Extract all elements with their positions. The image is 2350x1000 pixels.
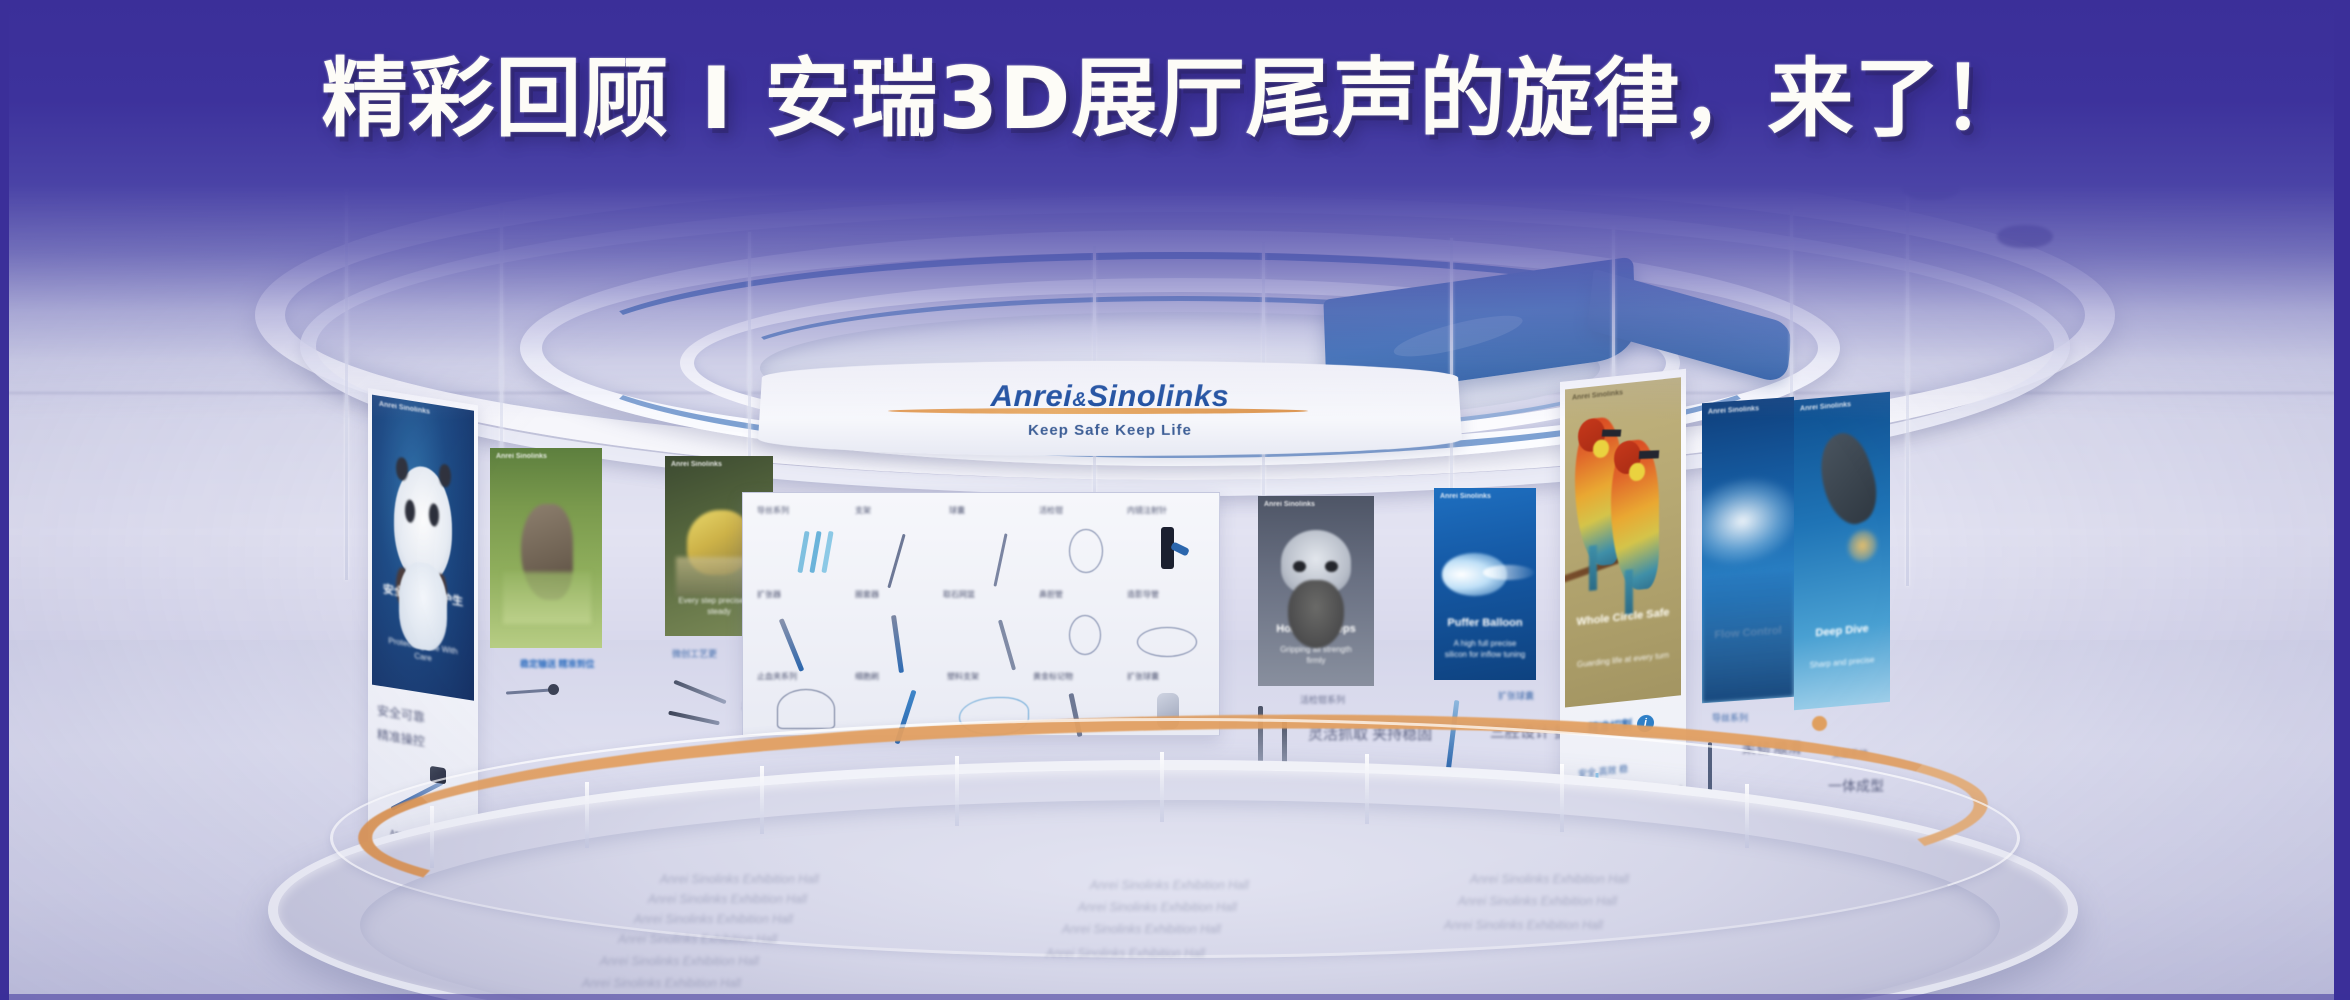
floor-text-line: Anrei Sinolinks Exhibition Hall (1090, 878, 1249, 892)
floor-text-line: Anrei Sinolinks Exhibition Hall (1444, 918, 1603, 932)
product-showcase-board[interactable]: 导丝系列 支架 球囊 活检钳 内镜注射针 扩张器 圈套器 取石网篮 鼻胆管 造影… (742, 492, 1220, 736)
panda-eye-left-icon (405, 498, 415, 523)
railing-post (430, 806, 434, 868)
device-illustration-tip (548, 684, 559, 695)
railing-post (1365, 754, 1369, 824)
poster-caption-water: 导丝系列 (1712, 712, 1748, 726)
poster-balloon[interactable]: Anrei Sinolinks Puffer Balloon A high fu… (1434, 488, 1536, 680)
poster-title: Deep Dive (1802, 620, 1883, 641)
panda-ear-right-icon (439, 463, 450, 488)
product-item-icon (998, 619, 1016, 670)
poster-caption-kangaroo: 稳定输送 精准到位 (520, 658, 595, 672)
poster-subtitle: A high full precise silicon for inflow t… (1444, 639, 1526, 661)
product-item-icon (1137, 627, 1197, 657)
page-title: 精彩回顾 I 安瑞3D展厅尾声的旋律，来了！ (0, 28, 2350, 153)
exhibition-banner-image: Anrei&Sinolinks Keep Safe Keep Life Anre… (0, 0, 2350, 1000)
badger-eye-left-icon (1293, 561, 1306, 572)
floor-text-line: Anrei Sinolinks Exhibition Hall (648, 892, 807, 906)
product-label: 黄金标记物 (1033, 671, 1073, 682)
product-label: 球囊 (949, 505, 965, 516)
poster-brandmark: Anrei Sinolinks (496, 453, 547, 460)
poster-sea-bird[interactable]: Anrei Sinolinks Deep Dive Sharp and prec… (1794, 392, 1890, 710)
floor-text-line: Anrei Sinolinks Exhibition Hall (1046, 946, 1205, 960)
floor-text-line: Anrei Sinolinks Exhibition Hall (1470, 872, 1629, 886)
floor-text-line: Anrei Sinolinks Exhibition Hall (1078, 900, 1237, 914)
product-item-icon (887, 534, 905, 589)
product-item-icon (821, 531, 833, 573)
railing-post (585, 782, 589, 848)
railing-post (1745, 784, 1749, 848)
poster-title: Puffer Balloon (1442, 616, 1528, 630)
product-label: 止血夹系列 (757, 671, 797, 682)
railing-post (760, 766, 764, 834)
product-item-icon (891, 615, 904, 673)
panel-caption-line1: 安全可靠 (377, 701, 425, 727)
poster-subtitle: Gripping all strength firmly (1270, 645, 1363, 667)
brand-tagline: Keep Safe Keep Life (1028, 421, 1192, 438)
poster-brandmark: Anrei Sinolinks (1440, 493, 1491, 500)
floor-text-line: Anrei Sinolinks Exhibition Hall (634, 912, 793, 926)
poster-caption-balloon: 扩张球囊 (1498, 690, 1534, 704)
floor-text-line: Anrei Sinolinks Exhibition Hall (1062, 922, 1221, 936)
product-label: 取石网篮 (943, 589, 975, 600)
bottom-edge-border (0, 994, 2350, 1000)
brand-swoosh-icon (888, 408, 1308, 414)
product-label: 扩张器 (757, 589, 781, 600)
poster-subtitle: Guarding life at every turn (1577, 651, 1670, 672)
ceiling-spot-light (1997, 225, 2053, 248)
railing-post (1560, 764, 1564, 832)
product-label: 造影导管 (1127, 589, 1159, 600)
product-label: 内镜注射针 (1127, 505, 1167, 516)
hanging-rod (1906, 186, 1909, 586)
poster-title: 安全守护 守护生命 (380, 582, 466, 624)
poster-kangaroo[interactable]: Anrei Sinolinks (490, 448, 602, 648)
poster-brandmark: Anrei Sinolinks (1708, 405, 1759, 416)
poster-bee-eaters: Anrei Sinolinks Whole Circle Safe Guardi… (1565, 377, 1681, 707)
poster-caption-badger: 活检钳系列 (1300, 694, 1345, 708)
product-label: 细胞刷 (855, 671, 879, 682)
product-label: 导丝系列 (757, 505, 789, 516)
poster-brandmark: Anrei Sinolinks (1264, 501, 1315, 508)
product-label: 扩张球囊 (1127, 671, 1159, 682)
product-item-icon (1069, 529, 1103, 573)
railing-post (955, 756, 959, 826)
product-label: 鼻胆管 (1039, 589, 1063, 600)
panel-accent-dot-icon (1812, 716, 1827, 731)
floor-text-line: Anrei Sinolinks Exhibition Hall (660, 872, 819, 886)
poster-title: Honey Forceps (1267, 622, 1364, 636)
poster-brandmark: Anrei Sinolinks (1800, 401, 1851, 412)
product-label: 塑料支架 (947, 671, 979, 682)
poster-water[interactable]: Anrei Sinolinks Flow Control (1702, 397, 1794, 703)
poster-caption-frog: 微创工艺更 (672, 648, 717, 662)
panda-ear-left-icon (396, 457, 407, 482)
poster-brandmark: Anrei Sinolinks (671, 461, 722, 468)
product-item-icon (797, 531, 809, 573)
floor-text-line: Anrei Sinolinks Exhibition Hall (582, 976, 741, 990)
railing-post (1160, 752, 1164, 822)
poster-panda: Anrei Sinolinks 安全守护 守护生命 Protecting Lif… (372, 395, 474, 701)
product-label: 活检钳 (1039, 505, 1063, 516)
poster-subtitle: Protecting Life With Care (382, 636, 464, 671)
floor-text-line: Anrei Sinolinks Exhibition Hall (600, 954, 759, 968)
floor-text-line: Anrei Sinolinks Exhibition Hall (1458, 894, 1617, 908)
product-item-icon (993, 533, 1007, 586)
poster-title: Whole Circle Safe (1574, 606, 1671, 631)
poster-brandmark: Anrei Sinolinks (1572, 389, 1623, 401)
brand-logo-band: Anrei&Sinolinks Keep Safe Keep Life (757, 361, 1463, 456)
panda-arm-right-icon (435, 573, 447, 613)
poster-honey-badger[interactable]: Anrei Sinolinks Honey Forceps Gripping a… (1258, 496, 1374, 686)
product-item-icon (1069, 615, 1101, 655)
poster-title: Flow Control (1709, 623, 1786, 643)
ceiling-spot-light (1902, 176, 1960, 200)
poster-subtitle: Sharp and precise (1804, 655, 1881, 673)
poster-brandmark: Anrei Sinolinks (379, 401, 430, 416)
floor-text-line: Anrei Sinolinks Exhibition Hall (618, 932, 777, 946)
product-label: 支架 (855, 505, 871, 516)
hanging-rod (345, 180, 348, 580)
panda-eye-right-icon (429, 502, 439, 527)
bird-right-icon (1611, 438, 1659, 593)
product-item-icon (777, 689, 835, 729)
panel-caption-line2: 精准操控 (377, 725, 425, 751)
product-item-icon (809, 531, 821, 573)
product-item-icon (779, 618, 805, 672)
badger-eye-right-icon (1325, 561, 1338, 572)
product-label: 圈套器 (855, 589, 879, 600)
